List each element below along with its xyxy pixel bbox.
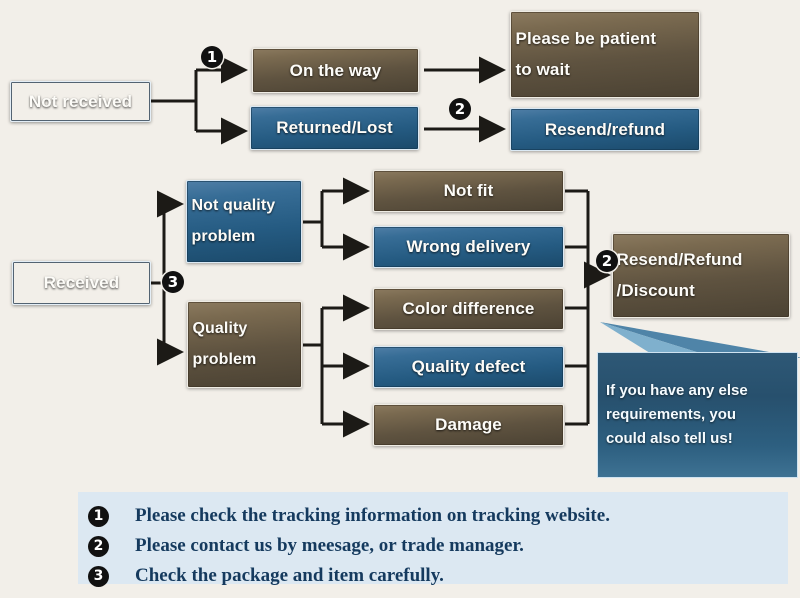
marker-two-bottom: 2 xyxy=(596,250,618,272)
node-resend-refund-label: Resend/refund xyxy=(511,121,699,139)
node-quality-problem[interactable]: Quality problem xyxy=(187,301,302,388)
node-not-received[interactable]: Not received xyxy=(10,81,151,122)
node-not-fit-label: Not fit xyxy=(374,182,563,200)
legend-panel: 1 Please check the tracking information … xyxy=(78,492,788,584)
speech-bubble: If you have any else requirements, you c… xyxy=(597,352,798,478)
node-quality-line2: problem xyxy=(187,352,302,369)
node-not-quality-line1: Not quality xyxy=(186,198,302,215)
flowchart-canvas: Not received On the way Returned/Lost Pl… xyxy=(0,0,800,598)
node-damage-label: Damage xyxy=(374,416,563,434)
node-on-the-way[interactable]: On the way xyxy=(252,48,419,93)
node-quality-defect-label: Quality defect xyxy=(374,358,563,376)
node-damage[interactable]: Damage xyxy=(373,404,564,446)
node-not-fit[interactable]: Not fit xyxy=(373,170,564,212)
bubble-line1: If you have any else xyxy=(606,379,789,403)
legend-item: 1 Please check the tracking information … xyxy=(88,502,610,530)
node-quality-defect[interactable]: Quality defect xyxy=(373,346,564,388)
node-received[interactable]: Received xyxy=(12,261,151,305)
node-wrong-delivery-label: Wrong delivery xyxy=(374,238,563,256)
node-be-patient-to-wait[interactable]: Please be patient to wait xyxy=(510,11,700,98)
node-received-label: Received xyxy=(13,274,150,292)
node-not-received-label: Not received xyxy=(11,93,150,111)
bubble-line2: requirements, you xyxy=(606,403,789,427)
node-be-patient-line1: Please be patient xyxy=(510,30,700,48)
node-be-patient-line2: to wait xyxy=(510,61,700,79)
node-returned-lost-label: Returned/Lost xyxy=(251,119,418,137)
marker-one-top: 1 xyxy=(201,46,223,68)
marker-two-top: 2 xyxy=(449,98,471,120)
node-quality-line1: Quality xyxy=(187,321,302,338)
legend-marker-two: 2 xyxy=(88,536,109,557)
legend-marker-three: 3 xyxy=(88,566,109,587)
marker-three: 3 xyxy=(162,271,184,293)
legend-item: 2 Please contact us by meesage, or trade… xyxy=(88,532,524,560)
legend-text-one: Please check the tracking information on… xyxy=(135,505,610,527)
node-resend-refund-discount-line2: /Discount xyxy=(612,282,790,300)
legend-item: 3 Check the package and item carefully. xyxy=(88,562,444,590)
node-resend-refund[interactable]: Resend/refund xyxy=(510,108,700,151)
node-resend-refund-discount-line1: Resend/Refund xyxy=(612,251,790,269)
node-wrong-delivery[interactable]: Wrong delivery xyxy=(373,226,564,268)
node-not-quality-problem[interactable]: Not quality problem xyxy=(186,180,302,263)
legend-text-two: Please contact us by meesage, or trade m… xyxy=(135,535,524,557)
node-color-difference[interactable]: Color difference xyxy=(373,288,564,330)
node-on-the-way-label: On the way xyxy=(253,62,418,80)
legend-text-three: Check the package and item carefully. xyxy=(135,565,444,587)
node-resend-refund-discount[interactable]: Resend/Refund /Discount xyxy=(612,233,790,318)
node-returned-lost[interactable]: Returned/Lost xyxy=(250,106,419,150)
node-not-quality-line2: problem xyxy=(186,229,302,246)
node-color-difference-label: Color difference xyxy=(374,300,563,318)
legend-marker-one: 1 xyxy=(88,506,109,527)
bubble-line3: could also tell us! xyxy=(606,427,789,451)
